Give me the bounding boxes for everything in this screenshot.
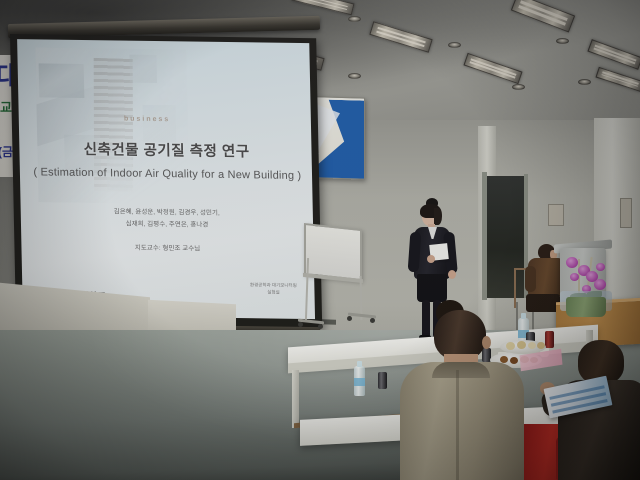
ceiling-downlight: [348, 73, 361, 79]
table-leg: [292, 370, 299, 428]
slide-title: 신축건물 공기질 측정 연구: [83, 138, 305, 162]
ceiling-downlight: [348, 16, 361, 22]
audience-khaki-collar: [432, 362, 490, 378]
slide-watermark: business: [124, 115, 171, 123]
orchid-pot: [566, 297, 606, 317]
door-frame: [482, 172, 487, 300]
left-banner-line-2: 교: [0, 97, 12, 116]
whiteboard-wheel: [318, 324, 323, 329]
slide-lab-credit: 환경공학과 대기모니터링 실험실: [250, 281, 297, 297]
ceiling-downlight: [556, 38, 569, 44]
presenter-left-hand: [427, 255, 435, 263]
snack-item: [537, 342, 545, 349]
orchid-bloom: [594, 279, 606, 290]
seated-person-arm: [525, 266, 536, 292]
screen-border: business 신축건물 공기질 측정 연구 ( Estimation of …: [10, 34, 322, 328]
presenter-hair-side: [434, 208, 442, 225]
audience-khaki-ear: [482, 336, 491, 349]
slide-authors: 김은혜, 윤성운, 박정원, 김경우, 성민기, 심재희, 김평수, 주연은, …: [21, 205, 314, 234]
snack-item: [528, 342, 536, 349]
projection-screen: business 신축건물 공기질 측정 연구 ( Estimation of …: [10, 34, 322, 328]
audience-khaki-head: [434, 310, 486, 360]
coffee-can[interactable]: [378, 372, 387, 389]
coffee-can[interactable]: [545, 331, 554, 348]
bottle-label: [354, 378, 365, 386]
whiteboard-wheel: [347, 316, 352, 321]
audience-khaki-jacket-body: [400, 362, 524, 480]
wall-panel: [548, 204, 564, 226]
ceiling-downlight: [512, 84, 525, 90]
collage-block: [38, 63, 84, 98]
presenter-skirt: [417, 274, 447, 302]
collage-block: [129, 55, 157, 83]
slide-photo-collage: [35, 48, 190, 205]
purple-orchid-plant: [552, 255, 622, 317]
presentation-room-photo: 대 교 (금) 발표회 표회 구대학교 환경공학과: [0, 0, 640, 480]
audience-member-khaki-jacket: [398, 310, 528, 480]
slide-lab-line-2: 실험실: [250, 289, 297, 297]
slide-advisor: 지도교수: 형민조 교수님: [21, 241, 313, 255]
audience-khaki-seam: [456, 370, 459, 480]
wall-panel: [620, 198, 632, 228]
orchid-bloom: [596, 263, 605, 271]
ceiling-downlight: [448, 42, 461, 48]
whiteboard-wheel: [298, 322, 303, 327]
orchid-bloom: [566, 257, 578, 268]
collage-block: [142, 105, 176, 143]
orchid-bloom: [570, 273, 579, 281]
ceiling-downlight: [578, 79, 591, 85]
presenter-right-hand: [448, 270, 456, 279]
mobile-whiteboard[interactable]: [304, 223, 362, 281]
whiteboard-wheel: [370, 318, 375, 323]
water-bottle[interactable]: [354, 366, 365, 396]
presentation-slide: business 신축건물 공기질 측정 연구 ( Estimation of …: [17, 39, 315, 319]
